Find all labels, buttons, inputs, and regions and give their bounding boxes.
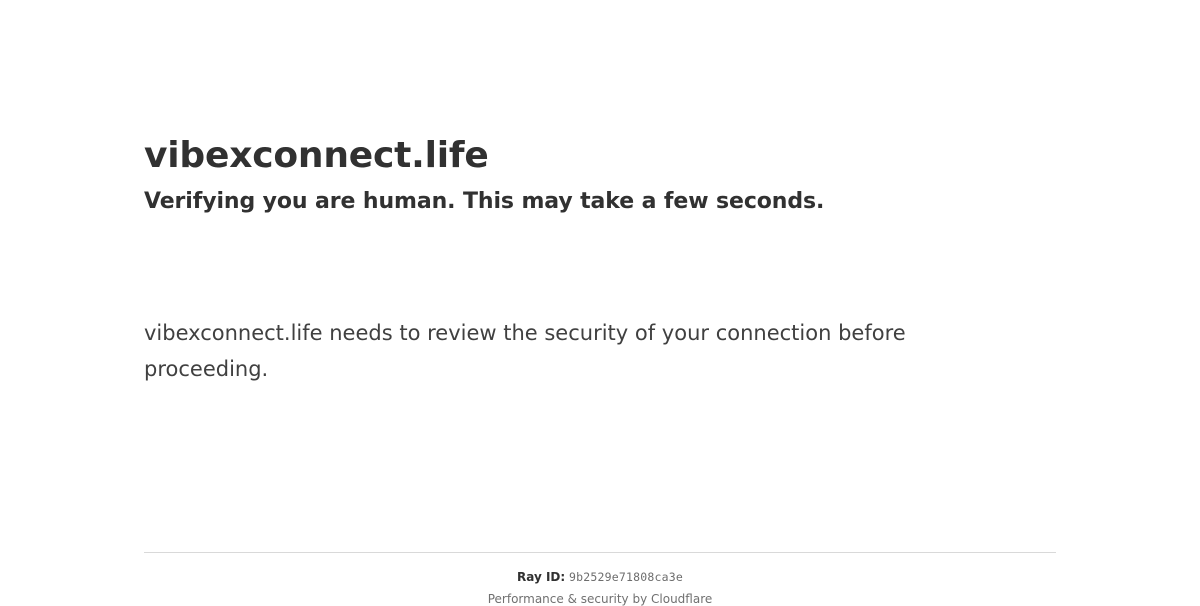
footer-content: Ray ID: 9b2529e71808ca3e Performance & s… — [144, 553, 1056, 606]
ray-id-line: Ray ID: 9b2529e71808ca3e — [144, 570, 1056, 584]
challenge-content: vibexconnect.life Verifying you are huma… — [144, 0, 1056, 387]
page-title: vibexconnect.life — [144, 0, 1056, 179]
footer-credit-line: Performance & security by Cloudflare — [144, 592, 1056, 606]
cloudflare-brand-link[interactable]: Cloudflare — [651, 592, 712, 606]
challenge-page: vibexconnect.life Verifying you are huma… — [0, 0, 1200, 600]
ray-id-label: Ray ID: — [517, 570, 565, 584]
turnstile-widget-slot[interactable] — [144, 217, 444, 315]
ray-id-value: 9b2529e71808ca3e — [569, 570, 683, 584]
footer-credit-prefix: Performance & security by — [488, 592, 651, 606]
security-explanation-text: vibexconnect.life needs to review the se… — [144, 315, 944, 387]
footer: Ray ID: 9b2529e71808ca3e Performance & s… — [144, 552, 1056, 606]
verification-status-text: Verifying you are human. This may take a… — [144, 179, 1056, 217]
